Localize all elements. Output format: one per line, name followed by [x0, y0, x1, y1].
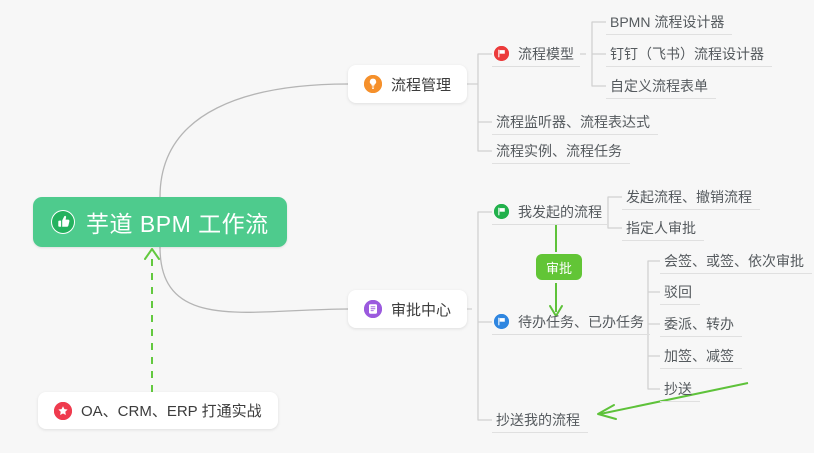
leaf-node-custom-process-form[interactable]: 自定义流程表单 [606, 73, 716, 99]
leaf-node-cc-to-me-processes[interactable]: 抄送我的流程 [492, 407, 588, 433]
annotation-arrowhead-root [145, 249, 159, 259]
sub-node-process-model[interactable]: 流程模型 [492, 41, 580, 67]
sub-label-my-initiated-processes: 我发起的流程 [518, 202, 602, 222]
lightbulb-icon [364, 75, 382, 93]
branch-node-approval-center[interactable]: 审批中心 [348, 290, 467, 328]
leaf-label-process-instance-task: 流程实例、流程任务 [496, 141, 622, 161]
sub-label-todo-done-tasks: 待办任务、已办任务 [518, 312, 644, 332]
mindmap-canvas: 芋道 BPM 工作流 流程管理 流程模型 BPMN 流程设计器 钉钉（飞书 [0, 0, 814, 453]
edge-root-to-process-management [160, 84, 348, 197]
integration-note-label: OA、CRM、ERP 打通实战 [81, 400, 262, 421]
leaf-node-carbon-copy[interactable]: 抄送 [660, 376, 700, 402]
approval-tag-label: 审批 [546, 258, 572, 277]
flag-icon [494, 204, 509, 219]
leaf-node-countersign-orsign-sequential[interactable]: 会签、或签、依次审批 [660, 248, 812, 274]
leaf-node-delegate-transfer[interactable]: 委派、转办 [660, 311, 742, 337]
leaf-label-delegate-transfer: 委派、转办 [664, 314, 734, 334]
annotation-arrowhead-ccmine [598, 405, 616, 419]
leaf-label-assignee-approval: 指定人审批 [626, 218, 696, 238]
leaf-label-start-cancel-process: 发起流程、撤销流程 [626, 187, 752, 207]
sub-node-my-initiated-processes[interactable]: 我发起的流程 [492, 199, 608, 225]
leaf-node-reject[interactable]: 驳回 [660, 279, 700, 305]
flag-icon [494, 46, 509, 61]
leaf-node-bpmn-designer[interactable]: BPMN 流程设计器 [606, 9, 732, 35]
leaf-label-dingtalk-feishu-designer: 钉钉（飞书）流程设计器 [610, 44, 764, 64]
leaf-label-custom-process-form: 自定义流程表单 [610, 76, 708, 96]
leaf-node-add-remove-sign[interactable]: 加签、减签 [660, 343, 742, 369]
leaf-node-process-instance-task[interactable]: 流程实例、流程任务 [492, 138, 630, 164]
sub-label-process-model: 流程模型 [518, 44, 574, 64]
sub-node-todo-done-tasks[interactable]: 待办任务、已办任务 [492, 309, 650, 335]
leaf-label-carbon-copy: 抄送 [664, 379, 692, 399]
root-label: 芋道 BPM 工作流 [86, 205, 269, 239]
branch-label-approval-center: 审批中心 [391, 299, 451, 320]
approval-tag[interactable]: 审批 [536, 254, 582, 280]
leaf-label-add-remove-sign: 加签、减签 [664, 346, 734, 366]
leaf-label-process-listener-expression: 流程监听器、流程表达式 [496, 112, 650, 132]
leaf-node-start-cancel-process[interactable]: 发起流程、撤销流程 [622, 184, 760, 210]
leaf-node-dingtalk-feishu-designer[interactable]: 钉钉（飞书）流程设计器 [606, 41, 772, 67]
leaf-node-assignee-approval[interactable]: 指定人审批 [622, 215, 704, 241]
leaf-label-bpmn-designer: BPMN 流程设计器 [610, 12, 724, 32]
branch-node-process-management[interactable]: 流程管理 [348, 65, 467, 103]
branch-label-process-management: 流程管理 [391, 74, 451, 95]
leaf-node-process-listener-expression[interactable]: 流程监听器、流程表达式 [492, 109, 658, 135]
root-node[interactable]: 芋道 BPM 工作流 [33, 197, 287, 247]
leaf-label-cc-to-me-processes: 抄送我的流程 [496, 410, 580, 430]
star-icon [54, 402, 72, 420]
clipboard-icon [364, 300, 382, 318]
integration-note-node[interactable]: OA、CRM、ERP 打通实战 [38, 392, 278, 429]
thumbs-up-icon [51, 210, 75, 234]
flag-icon [494, 314, 509, 329]
edge-root-to-approval-center [160, 247, 348, 312]
leaf-label-reject: 驳回 [664, 282, 692, 302]
leaf-label-countersign-orsign-sequential: 会签、或签、依次审批 [664, 251, 804, 271]
